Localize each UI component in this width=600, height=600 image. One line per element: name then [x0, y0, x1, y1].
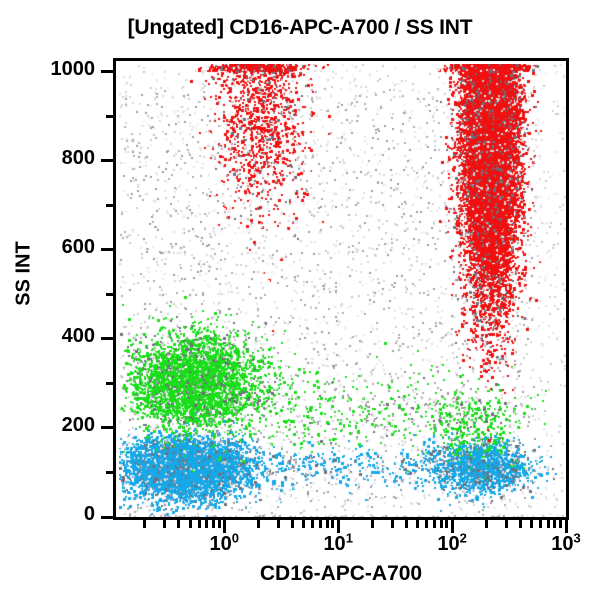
x-tick-minor: [547, 520, 550, 528]
x-tick-minor: [205, 520, 208, 528]
x-tick-label: 102: [407, 533, 497, 556]
y-tick-label: 200: [5, 414, 95, 437]
x-tick-minor: [319, 520, 322, 528]
scatter-points-canvas: [119, 64, 569, 520]
x-tick-minor: [530, 520, 533, 528]
x-tick-major: [337, 520, 340, 533]
x-tick-major: [451, 520, 454, 533]
x-tick-minor: [440, 520, 443, 528]
y-tick-label: 600: [5, 236, 95, 259]
y-tick-label: 0: [5, 503, 95, 526]
x-tick-minor: [391, 520, 394, 528]
x-tick-major: [223, 520, 226, 533]
x-tick-minor: [331, 520, 334, 528]
x-tick-minor: [539, 520, 542, 528]
x-tick-label: 101: [293, 533, 383, 556]
x-tick-minor: [433, 520, 436, 528]
x-tick-label: 100: [179, 533, 269, 556]
x-tick-minor: [143, 520, 146, 528]
x-tick-minor: [326, 520, 329, 528]
x-tick-minor: [257, 520, 260, 528]
y-tick-label: 1000: [5, 58, 95, 81]
x-tick-minor: [445, 520, 448, 528]
x-tick-minor: [371, 520, 374, 528]
x-tick-minor: [416, 520, 419, 528]
flow-cytometry-scatter-plot: [Ungated] CD16-APC-A700 / SS INT SS INT …: [0, 0, 600, 600]
x-tick-minor: [277, 520, 280, 528]
plot-area[interactable]: [113, 58, 569, 520]
x-tick-minor: [311, 520, 314, 528]
x-tick-minor: [405, 520, 408, 528]
x-tick-minor: [163, 520, 166, 528]
y-tick-label: 800: [5, 147, 95, 170]
page-title: [Ungated] CD16-APC-A700 / SS INT: [0, 16, 600, 40]
x-tick-label: 103: [521, 533, 600, 556]
x-tick-minor: [505, 520, 508, 528]
x-tick-minor: [189, 520, 192, 528]
x-tick-minor: [198, 520, 201, 528]
x-axis-label: CD16-APC-A700: [113, 562, 569, 586]
x-tick-minor: [218, 520, 221, 528]
x-tick-minor: [291, 520, 294, 528]
x-tick-minor: [425, 520, 428, 528]
x-tick-minor: [559, 520, 562, 528]
x-tick-minor: [553, 520, 556, 528]
x-tick-minor: [212, 520, 215, 528]
x-tick-minor: [302, 520, 305, 528]
y-axis-label: SS INT: [13, 214, 36, 334]
x-tick-minor: [519, 520, 522, 528]
x-tick-minor: [485, 520, 488, 528]
y-tick-label: 400: [5, 325, 95, 348]
x-tick-minor: [177, 520, 180, 528]
x-tick-major: [565, 520, 568, 533]
